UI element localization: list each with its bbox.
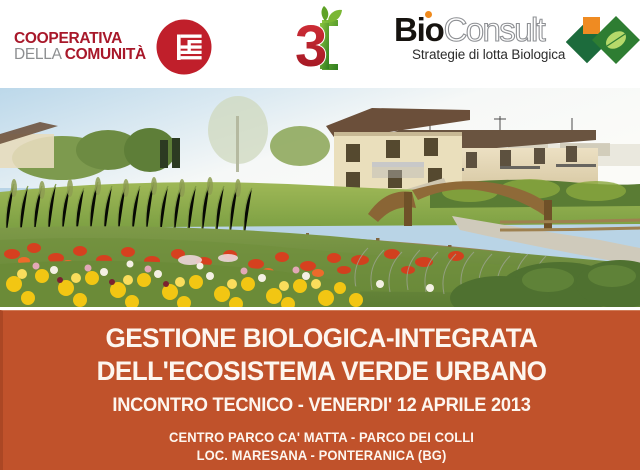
event-subtitle: INCONTRO TECNICO - VENERDI' 12 APRILE 20…: [16, 395, 628, 417]
event-info-panel: GESTIONE BIOLOGICA-INTEGRATA DELL'ECOSIS…: [0, 310, 640, 470]
event-venue-line-2: LOC. MARESANA - PONTERANICA (BG): [16, 447, 628, 465]
event-info-text: GESTIONE BIOLOGICA-INTEGRATA DELL'ECOSIS…: [3, 322, 640, 464]
bioconsult-diamond-icon: [566, 15, 640, 71]
event-title-line-1: GESTIONE BIOLOGICA-INTEGRATA: [8, 322, 635, 355]
photo-artwork: [0, 88, 640, 307]
event-poster: COOPERATIVA DELLA COMUNITÀ: [0, 0, 640, 470]
event-venue-line-1: CENTRO PARCO CA' MATTA - PARCO DEI COLLI: [16, 429, 628, 447]
logo-bar: COOPERATIVA DELLA COMUNITÀ: [0, 0, 640, 88]
svg-text:3: 3: [295, 14, 327, 79]
cooperativa-della-word: DELLA: [14, 46, 65, 63]
logo-formazione-3: formazione: [278, 6, 352, 82]
event-title-line-2: DELL'ECOSISTEMA VERDE URBANO: [8, 355, 635, 388]
cooperativa-circle-icon: [155, 18, 213, 76]
cooperativa-line-1: COOPERATIVA: [14, 31, 146, 47]
bioconsult-tagline: Strategie di lotta Biologica: [412, 47, 565, 62]
formazione-sprout-icon: 3: [278, 6, 352, 82]
bioconsult-name: BioConsult: [394, 13, 544, 46]
logo-cooperativa-della-comunita: COOPERATIVA DELLA COMUNITÀ: [14, 18, 213, 76]
logo-bioconsult: BioConsult Strategie di lotta Biologica: [394, 13, 640, 71]
cooperativa-comunita-word: COMUNITÀ: [65, 46, 146, 63]
bioconsult-consult-word: Consult: [444, 11, 545, 48]
formazione-vertical-label: formazione: [276, 0, 290, 10]
bioconsult-bio-word: Bio: [394, 11, 444, 48]
cooperativa-line-2: DELLA COMUNITÀ: [14, 47, 146, 63]
cooperativa-wordmark: COOPERATIVA DELLA COMUNITÀ: [14, 31, 146, 63]
bioconsult-orange-dot-icon: [425, 11, 432, 18]
urban-green-meadow-photo: [0, 88, 640, 307]
bioconsult-wordmark: BioConsult Strategie di lotta Biologica: [394, 13, 565, 62]
